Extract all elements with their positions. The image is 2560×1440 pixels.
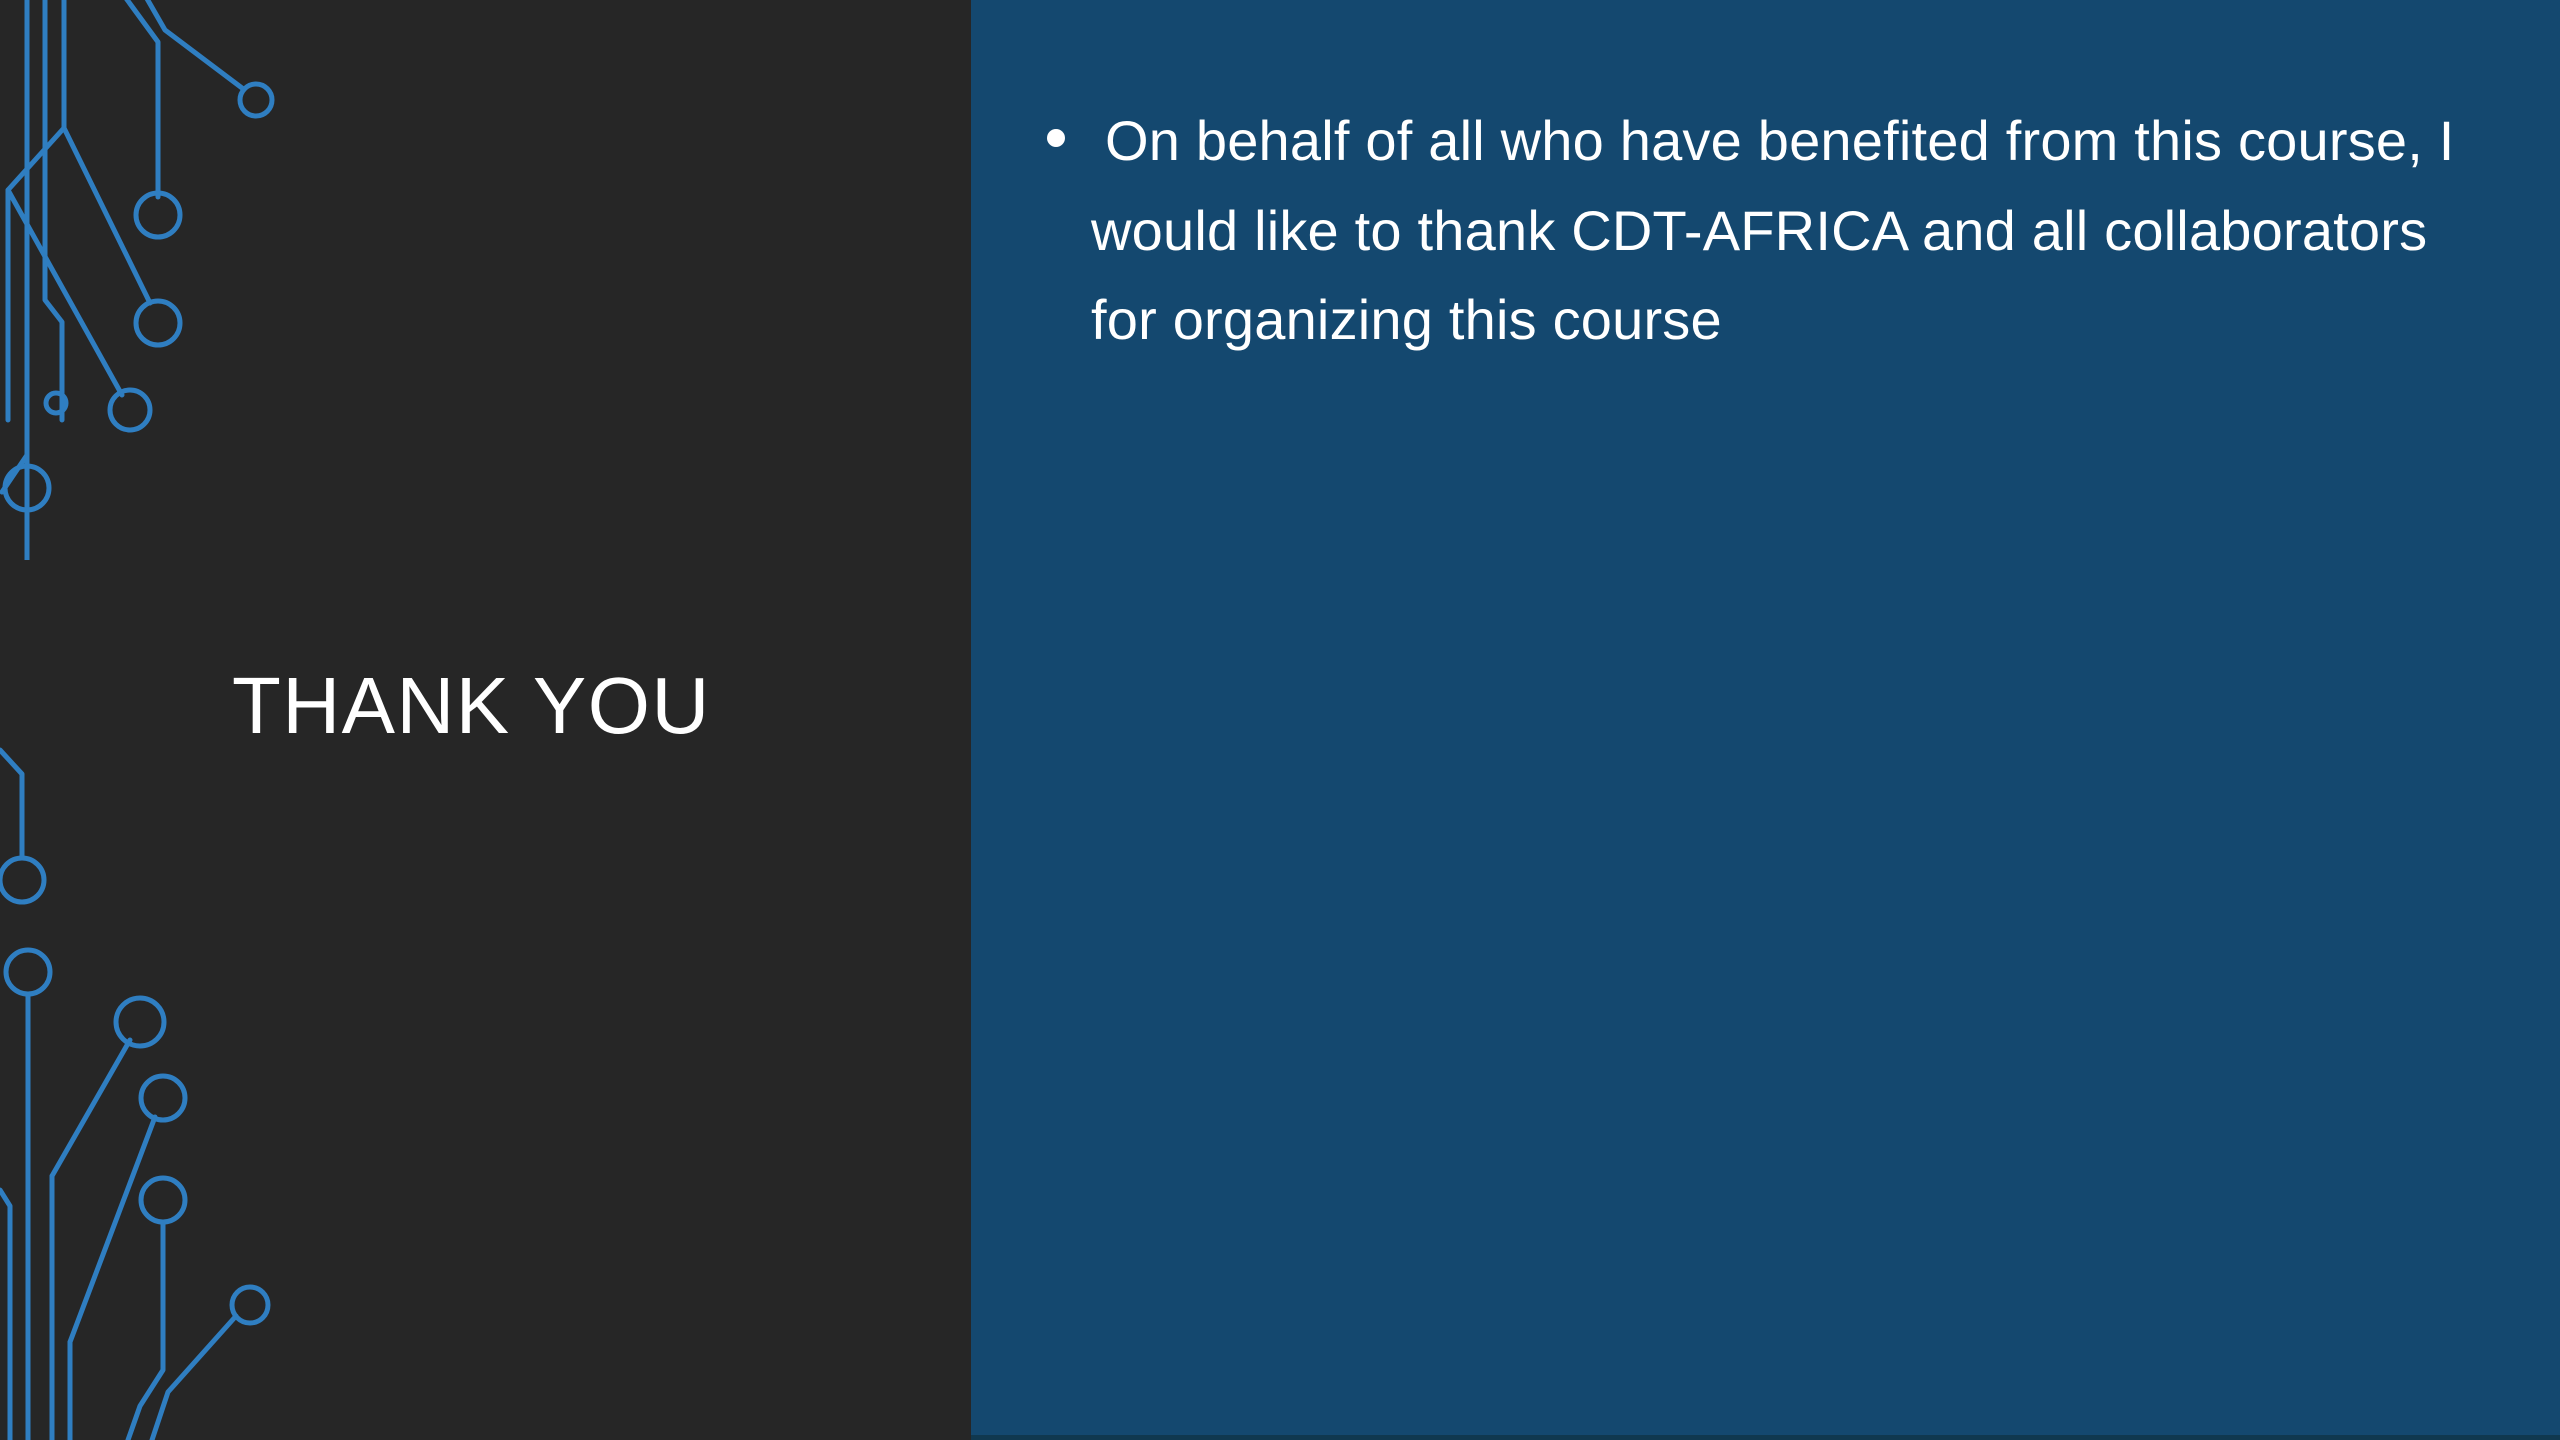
circuit-board-traces-top-icon bbox=[0, 0, 340, 560]
list-item: On behalf of all who have benefited from… bbox=[1047, 96, 2467, 365]
circuit-board-traces-bottom-icon bbox=[0, 740, 360, 1440]
panel-bottom-edge bbox=[971, 1435, 2560, 1440]
presentation-slide: THANK YOU On behalf of all who have bene… bbox=[0, 0, 2560, 1440]
body-text-block: On behalf of all who have benefited from… bbox=[1047, 96, 2467, 365]
bullet-text: On behalf of all who have benefited from… bbox=[1091, 96, 2467, 365]
page-title: THANK YOU bbox=[232, 666, 711, 746]
left-dark-panel: THANK YOU bbox=[0, 0, 971, 1440]
bullet-dot-icon bbox=[1047, 129, 1065, 147]
right-content-panel: On behalf of all who have benefited from… bbox=[971, 0, 2560, 1440]
